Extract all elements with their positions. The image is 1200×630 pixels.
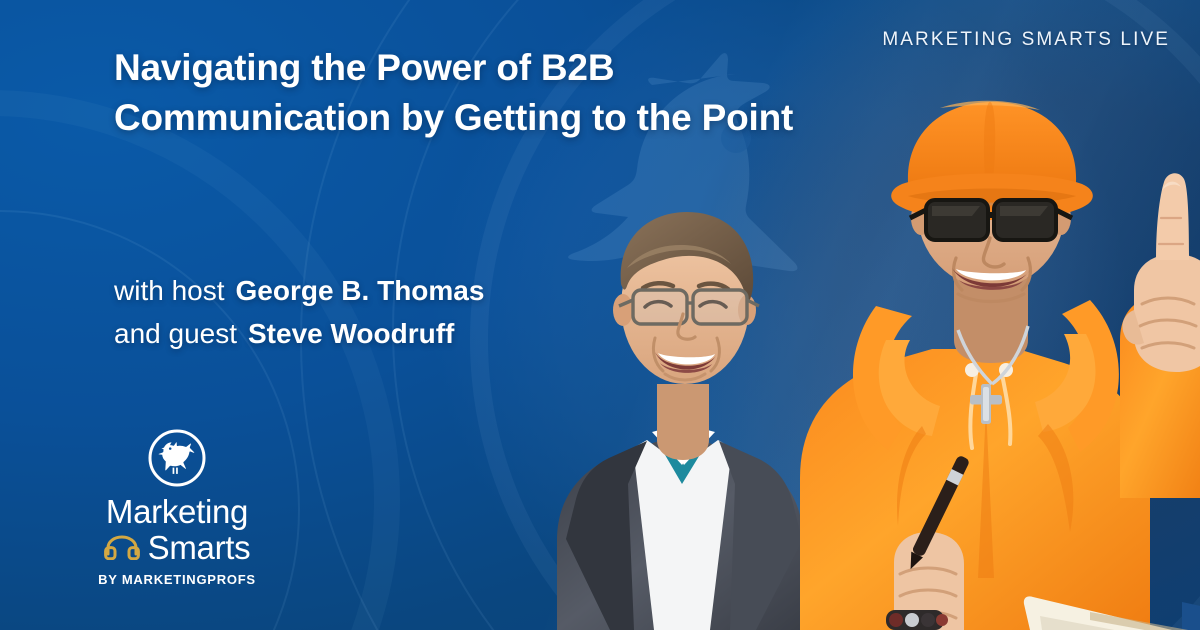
logo-byline: BY MARKETINGPROFS	[89, 572, 265, 587]
guest-row: and guestSteve Woodruff	[114, 313, 484, 356]
logo-second-row: Smarts	[89, 530, 265, 566]
bird-in-circle-icon	[147, 428, 207, 488]
logo-word-marketing: Marketing	[89, 494, 265, 530]
promo-graphic: MARKETING SMARTS LIVE Navigating the Pow…	[0, 0, 1200, 630]
logo-word-smarts: Smarts	[148, 530, 251, 566]
headphones-icon	[104, 534, 140, 560]
host-photo-george-b-thomas	[790, 78, 1200, 630]
credits-block: with hostGeorge B. Thomas and guestSteve…	[114, 270, 484, 355]
guest-lead-label: and guest	[114, 318, 237, 349]
guest-name: Steve Woodruff	[248, 318, 454, 349]
host-lead-label: with host	[114, 275, 225, 306]
host-row: with hostGeorge B. Thomas	[114, 270, 484, 313]
host-name: George B. Thomas	[236, 275, 485, 306]
marketing-smarts-logo: Marketing Smarts BY MARKETINGPROFS	[89, 428, 265, 587]
